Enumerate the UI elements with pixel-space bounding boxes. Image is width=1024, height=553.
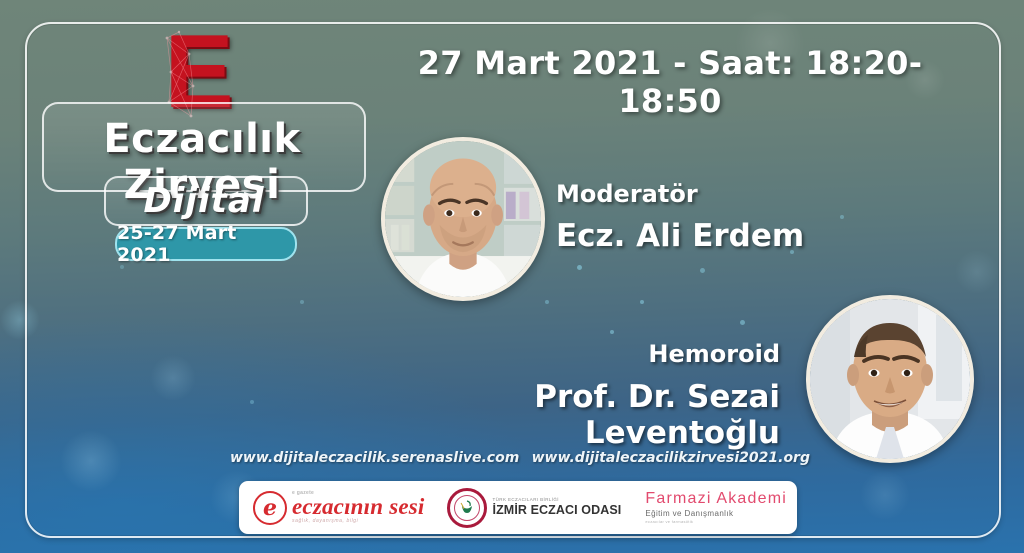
snake-bowl-glyph	[459, 500, 475, 516]
particle-dot	[577, 265, 582, 270]
particle-dot	[640, 300, 644, 304]
farmazi-tagline: Eğitim ve Danışmanlık	[645, 508, 787, 519]
particle-dot	[740, 320, 745, 325]
speaker-avatar	[806, 295, 974, 463]
event-poster: E Eczacılık Zirvesi Dijital 25-27 Mart 2…	[0, 0, 1024, 553]
particle-dot	[250, 400, 254, 404]
sponsor-farmazi-akademi[interactable]: Farmazi Akademi Eğitim ve Danışmanlık ec…	[621, 481, 787, 534]
speaker-name: Prof. Dr. Sezai Leventoğlu	[340, 379, 780, 451]
brand-logo-lockup: E Eczacılık Zirvesi Dijital 25-27 Mart 2…	[42, 24, 362, 240]
bokeh-circle	[955, 250, 999, 294]
particle-dot	[545, 300, 549, 304]
bowl-of-hygieia-icon	[447, 488, 487, 528]
website-link-serenaslive[interactable]: www.dijitaleczacilik.serenaslive.com	[230, 450, 519, 466]
event-datetime-headline: 27 Mart 2021 - Saat: 18:20-18:50	[400, 44, 940, 120]
event-date-badge: 25-27 Mart 2021	[115, 227, 297, 261]
bokeh-circle	[60, 430, 122, 492]
eczacinin-sesi-e-icon: e	[253, 491, 287, 525]
sponsor-bar: e e gazete eczacının sesi sağlık, dayanı…	[239, 481, 797, 534]
website-links: www.dijitaleczacilik.serenaslive.com www…	[230, 450, 810, 466]
moderator-role-label: Moderatör	[556, 180, 698, 208]
event-date-badge-label: 25-27 Mart 2021	[117, 222, 295, 266]
particle-dot	[300, 300, 304, 304]
particle-dot	[610, 330, 614, 334]
particle-dot	[700, 268, 705, 273]
sponsor-eczacinin-sesi[interactable]: e e gazete eczacının sesi sağlık, dayanı…	[239, 481, 425, 534]
moderator-portrait-image	[385, 141, 541, 297]
bokeh-circle	[860, 470, 910, 520]
bokeh-circle	[0, 300, 40, 340]
moderator-avatar	[381, 137, 545, 301]
farmazi-name: Farmazi Akademi	[645, 490, 787, 508]
moderator-name: Ecz. Ali Erdem	[556, 218, 804, 254]
speaker-portrait-image	[810, 299, 970, 459]
website-link-zirvesi2021[interactable]: www.dijitaleczacilikzirvesi2021.org	[532, 450, 810, 466]
farmazi-tagline-secondary: eczacılar ve farmasötik	[645, 519, 787, 525]
particle-dot	[840, 215, 844, 219]
sponsor-izmir-eczaci-odasi[interactable]: TÜRK ECZACILARI BİRLİĞİ İZMİR ECZACI ODA…	[425, 481, 622, 534]
bokeh-circle	[150, 355, 196, 401]
speaker-topic-label: Hemoroid	[340, 340, 780, 368]
izmir-name: İZMİR ECZACI ODASI	[493, 503, 622, 517]
brand-subtitle: Dijital	[104, 181, 304, 221]
eczacinin-sesi-name: eczacının sesi	[292, 496, 425, 518]
